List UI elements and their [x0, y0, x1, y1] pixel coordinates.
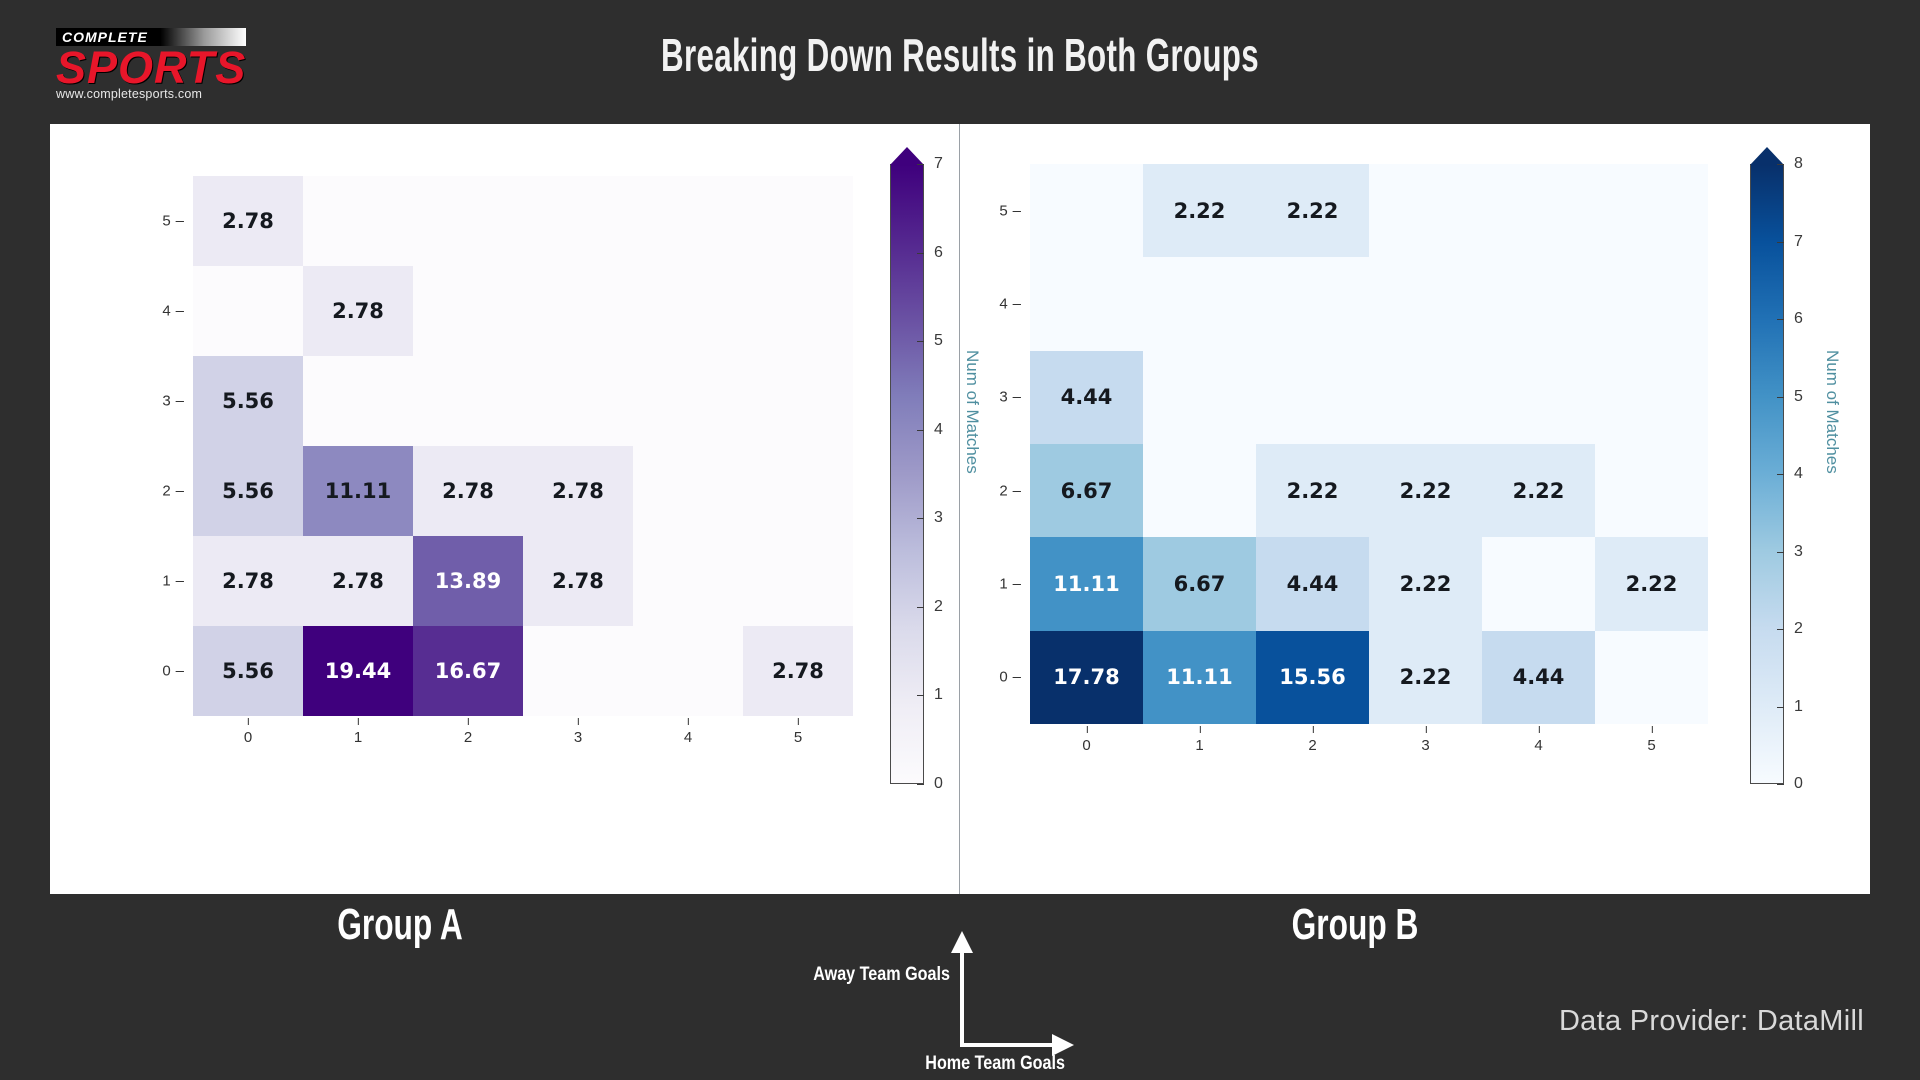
- colorbar-tick: 1: [1784, 698, 1803, 716]
- x-axis-tick: 3: [574, 729, 582, 746]
- heatmap-cell[interactable]: 5.56: [193, 626, 303, 716]
- group-a-caption: Group A: [256, 900, 544, 950]
- heatmap-cell[interactable]: 2.22: [1369, 444, 1482, 537]
- heatmap-cell[interactable]: [523, 266, 633, 356]
- heatmap-cell[interactable]: 5.56: [193, 446, 303, 536]
- x-axis-tick: 2: [1308, 737, 1316, 754]
- axis-vertical-line: [960, 951, 964, 1047]
- heatmap-cell[interactable]: 6.67: [1030, 444, 1143, 537]
- heatmap-cell[interactable]: [1595, 164, 1708, 257]
- heatmap-cell[interactable]: 4.44: [1030, 351, 1143, 444]
- axis-horizontal-line: [960, 1043, 1056, 1047]
- y-axis-tick: 0: [999, 669, 1021, 686]
- colorbar-label: Num of Matches: [1822, 350, 1842, 474]
- heatmap-cell[interactable]: 6.67: [1143, 537, 1256, 630]
- colorbar-tick: 7: [924, 155, 943, 173]
- colorbar-extend-arrow-icon: [1750, 147, 1784, 165]
- colorbar: 01234567Num of Matches: [890, 164, 924, 784]
- heatmap-cell-value: 5.56: [222, 389, 274, 413]
- colorbar-gradient: [890, 164, 924, 784]
- colorbar-tick: 4: [1784, 465, 1803, 483]
- heatmap-cell[interactable]: [633, 176, 743, 266]
- colorbar-tick: 7: [1784, 233, 1803, 251]
- heatmap-cell[interactable]: [1369, 164, 1482, 257]
- x-axis-tick: 0: [1082, 737, 1090, 754]
- heatmap-cell[interactable]: 4.44: [1482, 631, 1595, 724]
- heatmap-cell[interactable]: [1143, 257, 1256, 350]
- colorbar-extend-arrow-icon: [890, 147, 924, 165]
- y-axis-tick: 5: [162, 213, 184, 230]
- colorbar-tick: 3: [924, 509, 943, 527]
- heatmap-cell[interactable]: [1482, 257, 1595, 350]
- axis-up-arrow-icon: [951, 931, 973, 953]
- heatmap-cell-value: 6.67: [1174, 572, 1226, 596]
- heatmap-cell-value: 11.11: [1053, 572, 1119, 596]
- heatmap-cell[interactable]: 2.78: [523, 446, 633, 536]
- page-title: Breaking Down Results in Both Groups: [307, 28, 1613, 82]
- heatmap-cell[interactable]: 2.22: [1482, 444, 1595, 537]
- heatmap-cell[interactable]: 16.67: [413, 626, 523, 716]
- heatmap-cell[interactable]: [1595, 444, 1708, 537]
- heatmap-cell-value: 16.67: [435, 659, 501, 683]
- heatmap-cell[interactable]: [633, 536, 743, 626]
- heatmap-cell-value: 2.22: [1513, 479, 1565, 503]
- colorbar-tick: 1: [924, 686, 943, 704]
- heatmap-cell-value: 2.78: [222, 569, 274, 593]
- heatmap-cell[interactable]: 2.22: [1256, 444, 1369, 537]
- heatmap-cell-value: 2.22: [1400, 572, 1452, 596]
- heatmap-cell[interactable]: [1482, 164, 1595, 257]
- heatmap-cell[interactable]: [303, 176, 413, 266]
- heatmap-cell-value: 17.78: [1053, 665, 1119, 689]
- y-axis-tick: 4: [999, 296, 1021, 313]
- heatmap-cell[interactable]: [413, 176, 523, 266]
- heatmap-cell-value: 5.56: [222, 479, 274, 503]
- heatmap-cell[interactable]: 2.22: [1369, 537, 1482, 630]
- heatmap-cell-value: 2.78: [552, 479, 604, 503]
- data-provider-label: Data Provider: DataMill: [1559, 1005, 1864, 1038]
- x-axis-tick: 0: [244, 729, 252, 746]
- heatmap-cell[interactable]: 11.11: [1143, 631, 1256, 724]
- heatmap-grid: 2.782.785.565.5611.112.782.782.782.7813.…: [193, 176, 853, 716]
- x-axis-tick: 5: [1647, 737, 1655, 754]
- x-axis-tick: 4: [684, 729, 692, 746]
- colorbar-tick: 2: [1784, 620, 1803, 638]
- heatmap-cell[interactable]: [633, 356, 743, 446]
- heatmap-cell[interactable]: [523, 176, 633, 266]
- logo-main-text: SPORTS: [56, 47, 246, 90]
- heatmap-cell[interactable]: 2.22: [1256, 164, 1369, 257]
- colorbar-tick: 2: [924, 598, 943, 616]
- heatmap-cell[interactable]: [523, 626, 633, 716]
- x-axis-tick: 4: [1534, 737, 1542, 754]
- heatmap-cell-value: 6.67: [1061, 479, 1113, 503]
- heatmap-cell[interactable]: 2.78: [303, 266, 413, 356]
- y-axis-tick: 5: [999, 202, 1021, 219]
- y-axis-tick: 1: [999, 576, 1021, 593]
- heatmap-cell[interactable]: 11.11: [1030, 537, 1143, 630]
- heatmap-cell[interactable]: 2.22: [1595, 537, 1708, 630]
- heatmap-cell[interactable]: 15.56: [1256, 631, 1369, 724]
- heatmap-cell-value: 4.44: [1513, 665, 1565, 689]
- x-axis-tick: 1: [1195, 737, 1203, 754]
- heatmap-grid: 2.222.224.446.672.222.222.2211.116.674.4…: [1030, 164, 1708, 724]
- y-axis-tick: 2: [999, 482, 1021, 499]
- colorbar-tick: 6: [1784, 310, 1803, 328]
- heatmap-cell[interactable]: [633, 446, 743, 536]
- colorbar-tick: 0: [924, 775, 943, 793]
- heatmap-cell[interactable]: 19.44: [303, 626, 413, 716]
- heatmap-cell[interactable]: [633, 626, 743, 716]
- heatmap-cell[interactable]: [1256, 351, 1369, 444]
- heatmap-cell[interactable]: 5.56: [193, 356, 303, 446]
- heatmap-cell-value: 2.22: [1174, 199, 1226, 223]
- heatmap-cell-value: 2.78: [552, 569, 604, 593]
- y-axis-tick: 2: [162, 483, 184, 500]
- heatmap-cell[interactable]: 17.78: [1030, 631, 1143, 724]
- heatmap-cell[interactable]: [1369, 351, 1482, 444]
- heatmap-cell-value: 15.56: [1279, 665, 1345, 689]
- heatmap-cell[interactable]: 13.89: [413, 536, 523, 626]
- heatmap-cell[interactable]: [743, 266, 853, 356]
- heatmap-cell-value: 13.89: [435, 569, 501, 593]
- heatmap-cell[interactable]: [1143, 444, 1256, 537]
- heatmap-panel-group-b: 2.222.224.446.672.222.222.2211.116.674.4…: [960, 124, 1870, 894]
- heatmap-cell[interactable]: [413, 356, 523, 446]
- y-axis-tick: 0: [162, 663, 184, 680]
- heatmap-cell-value: 11.11: [1166, 665, 1232, 689]
- heatmap-cell-value: 4.44: [1061, 385, 1113, 409]
- colorbar-tick: 3: [1784, 543, 1803, 561]
- heatmap-cell[interactable]: 4.44: [1256, 537, 1369, 630]
- home-team-goals-label: Home Team Goals: [802, 1053, 1066, 1075]
- heatmap-cell-value: 2.78: [332, 299, 384, 323]
- heatmap-cell[interactable]: [1030, 164, 1143, 257]
- colorbar-tick: 4: [924, 421, 943, 439]
- heatmap-cell-value: 2.22: [1400, 665, 1452, 689]
- x-axis-tick: 1: [354, 729, 362, 746]
- heatmap-cell[interactable]: [1595, 631, 1708, 724]
- heatmap-panel-group-a: 2.782.785.565.5611.112.782.782.782.7813.…: [50, 124, 959, 894]
- heatmap-cell-value: 2.78: [772, 659, 824, 683]
- heatmap-cell[interactable]: [743, 356, 853, 446]
- heatmap-cell[interactable]: 2.22: [1369, 631, 1482, 724]
- y-axis-tick: 3: [162, 393, 184, 410]
- heatmap-cell-value: 2.78: [332, 569, 384, 593]
- x-axis-tick: 3: [1421, 737, 1429, 754]
- heatmap-cell[interactable]: 2.78: [743, 626, 853, 716]
- y-axis-tick: 3: [999, 389, 1021, 406]
- heatmap-cell[interactable]: [1369, 257, 1482, 350]
- heatmap-cell[interactable]: 2.22: [1143, 164, 1256, 257]
- heatmap-cell-value: 5.56: [222, 659, 274, 683]
- heatmap-cell-value: 2.78: [222, 209, 274, 233]
- y-axis-tick: 1: [162, 573, 184, 590]
- heatmap-cell-value: 2.22: [1287, 479, 1339, 503]
- colorbar-tick: 8: [1784, 155, 1803, 173]
- heatmap-cell[interactable]: [743, 176, 853, 266]
- heatmap-cell[interactable]: 2.78: [303, 536, 413, 626]
- heatmap-cells: 2.782.785.565.5611.112.782.782.782.7813.…: [193, 176, 853, 716]
- heatmap-cell[interactable]: [1595, 351, 1708, 444]
- heatmap-cell[interactable]: 2.78: [193, 176, 303, 266]
- heatmap-cell[interactable]: 11.11: [303, 446, 413, 536]
- heatmap-cell[interactable]: [193, 266, 303, 356]
- colorbar-tick: 5: [1784, 388, 1803, 406]
- heatmap-cell-value: 11.11: [325, 479, 391, 503]
- brand-logo: COMPLETE SPORTS www.completesports.com: [56, 28, 246, 101]
- heatmap-cell[interactable]: [1595, 257, 1708, 350]
- axis-orientation-legend: Away Team Goals Home Team Goals: [760, 925, 1180, 1065]
- x-axis-tick: 5: [794, 729, 802, 746]
- heatmap-cell[interactable]: [1482, 537, 1595, 630]
- heatmap-cell-value: 2.22: [1400, 479, 1452, 503]
- heatmap-cell[interactable]: [1143, 351, 1256, 444]
- group-b-caption: Group B: [1211, 900, 1499, 950]
- heatmap-cell[interactable]: [1482, 351, 1595, 444]
- y-axis-tick: 4: [162, 303, 184, 320]
- away-team-goals-label: Away Team Goals: [721, 963, 951, 987]
- heatmap-cell[interactable]: [303, 356, 413, 446]
- heatmap-cell[interactable]: [1030, 257, 1143, 350]
- heatmap-cell-value: 2.78: [442, 479, 494, 503]
- colorbar: 012345678Num of Matches: [1750, 164, 1784, 784]
- heatmap-cells: 2.222.224.446.672.222.222.2211.116.674.4…: [1030, 164, 1708, 724]
- heatmap-cell[interactable]: 2.78: [413, 446, 523, 536]
- heatmap-cell[interactable]: [633, 266, 743, 356]
- heatmap-cell[interactable]: [523, 356, 633, 446]
- colorbar-tick: 0: [1784, 775, 1803, 793]
- heatmap-cell[interactable]: [743, 536, 853, 626]
- heatmap-cell-value: 4.44: [1287, 572, 1339, 596]
- heatmap-cell[interactable]: [413, 266, 523, 356]
- x-axis-tick: 2: [464, 729, 472, 746]
- heatmap-cell[interactable]: 2.78: [523, 536, 633, 626]
- heatmap-cell[interactable]: 2.78: [193, 536, 303, 626]
- heatmap-cell-value: 2.22: [1287, 199, 1339, 223]
- colorbar-tick: 5: [924, 332, 943, 350]
- heatmap-cell[interactable]: [1256, 257, 1369, 350]
- heatmap-cell-value: 2.22: [1626, 572, 1678, 596]
- colorbar-tick: 6: [924, 244, 943, 262]
- heatmap-cell-value: 19.44: [325, 659, 391, 683]
- heatmap-cell[interactable]: [743, 446, 853, 536]
